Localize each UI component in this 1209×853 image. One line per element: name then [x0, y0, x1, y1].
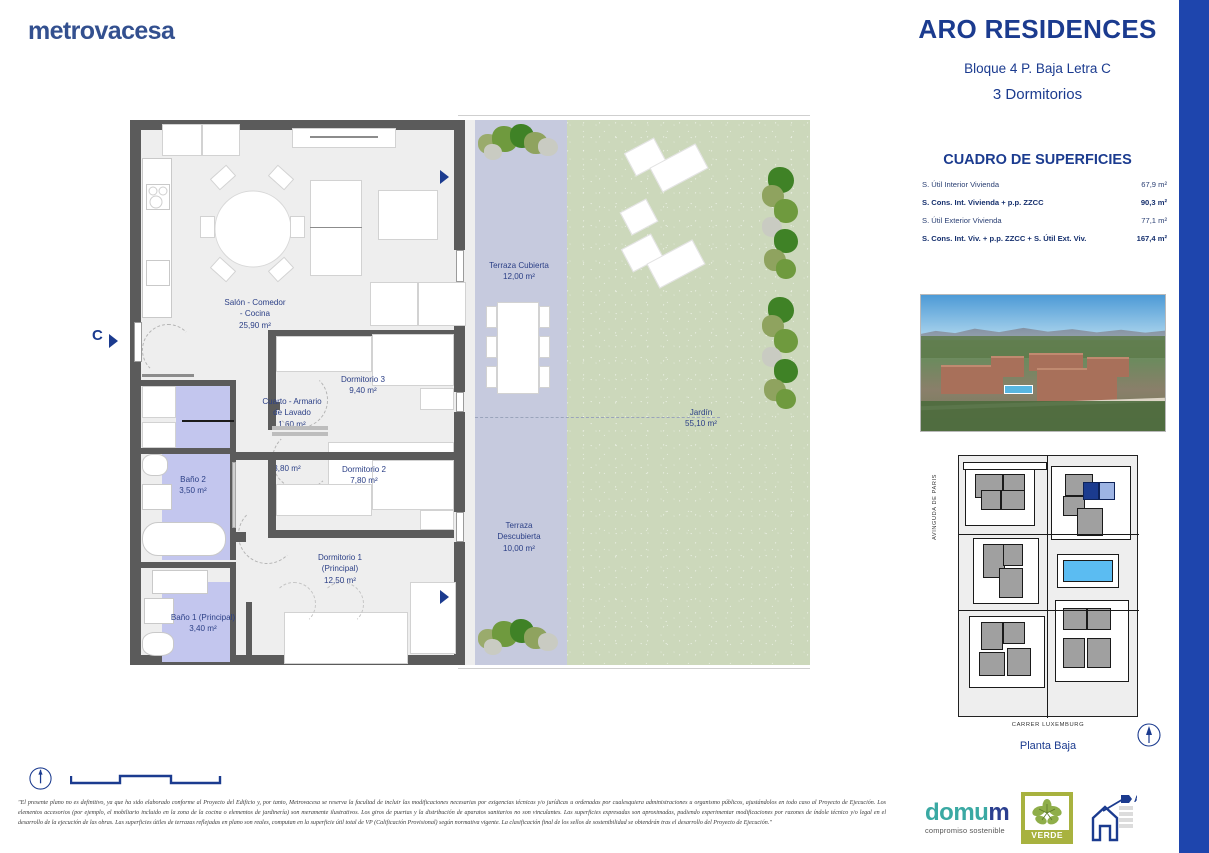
sofa-main [310, 180, 362, 276]
armchair-2 [418, 282, 466, 326]
sink-bano1 [144, 598, 174, 624]
planting-hedge-lower [760, 297, 800, 412]
kitchen-sink [146, 260, 170, 286]
surfaces-table-title: CUADRO DE SUPERFICIES [905, 152, 1170, 168]
brand-logo: metrovacesa [28, 17, 174, 46]
outdoor-chair [539, 366, 550, 388]
kitchen-upper-cabinet [202, 124, 240, 156]
surface-label: S. Cons. Int. Vivienda + p.p. ZZCC [922, 198, 1044, 207]
view-direction-arrow-1 [440, 170, 449, 184]
wall-dorm2-bottom [268, 530, 454, 538]
terrace-divider-line [470, 417, 720, 418]
armchair-1 [370, 282, 418, 326]
entrance-direction-arrow [109, 334, 118, 348]
outdoor-chair [486, 306, 497, 328]
laundry-leader-line [182, 420, 234, 422]
nightstand-dorm2 [420, 510, 454, 530]
outdoor-chair [539, 336, 550, 358]
kitchen-upper-cabinet [162, 124, 202, 156]
wall-bano1-right [230, 562, 236, 662]
laundry-door-swing [272, 372, 328, 428]
washer [142, 386, 176, 418]
table-row: S. Cons. Int. Vivienda + p.p. ZZCC 90,3 … [922, 194, 1167, 212]
verde-label: VERDE [1031, 830, 1063, 840]
outdoor-chair [486, 336, 497, 358]
toilet-bano2 [142, 454, 168, 476]
legal-disclaimer: "El presente plano no es definitivo, ya … [18, 799, 886, 828]
window-right-1 [456, 250, 464, 282]
surfaces-table: S. Útil Interior Vivienda 67,9 m² S. Con… [922, 176, 1167, 247]
surface-value: 167,4 m² [1137, 234, 1167, 243]
dryer [142, 422, 176, 448]
wall-exterior-right-a [454, 120, 465, 250]
door-leaf-dist [272, 432, 328, 436]
sink-bano2 [142, 484, 172, 510]
entry-door-swing [142, 324, 194, 376]
wall-exterior-right-c [454, 412, 465, 512]
unit-identifier: Bloque 4 P. Baja Letra C [905, 61, 1170, 76]
sideboard [292, 128, 396, 148]
burner-icons [146, 184, 170, 210]
wall-dorm3-left [268, 330, 276, 430]
floor-plan-drawing: Salón - Comedor - Cocina 25,90 m² Dormit… [120, 112, 820, 672]
planting-hedge-upper [760, 167, 800, 282]
right-accent-stripe [1179, 0, 1209, 853]
dining-chair [200, 216, 215, 238]
domum-text-2: u [974, 799, 988, 826]
toilet-bano1 [142, 632, 174, 656]
community-pool [1063, 560, 1113, 582]
planting-bed-top [476, 122, 560, 166]
outdoor-chair [539, 306, 550, 328]
domum-tagline: compromiso sostenible [925, 827, 1009, 834]
street-label-avinguda-de-paris: AVINGUDA DE PARIS [932, 450, 938, 540]
wall-dorm1-left [246, 602, 252, 664]
domum-text-3: m [988, 799, 1009, 826]
photo-pool [1004, 385, 1033, 395]
aerial-photo [920, 294, 1166, 432]
domum-logo: domum compromiso sostenible [925, 801, 1009, 834]
surface-value: 77,1 m² [1141, 216, 1167, 225]
project-header: ARO RESIDENCES Bloque 4 P. Baja Letra C … [905, 14, 1170, 103]
view-direction-arrow-2 [440, 590, 449, 604]
north-arrow-icon [1136, 722, 1162, 748]
wardrobe-dorm2 [276, 484, 372, 516]
bathtub-bano2 [142, 522, 226, 556]
domum-text-1: dom [925, 799, 974, 826]
bedroom-count: 3 Dormitorios [905, 86, 1170, 103]
certification-logos: domum compromiso sostenible [925, 792, 1137, 844]
table-row: S. Útil Exterior Vivienda 77,1 m² [922, 212, 1167, 230]
compass-north-icon [28, 766, 53, 791]
entrance-letter: C [92, 327, 103, 344]
energy-rating-badge: A [1085, 792, 1137, 844]
project-title: ARO RESIDENCES [905, 14, 1170, 45]
sideboard-detail [310, 136, 378, 138]
energy-rating-letter: A [1134, 794, 1137, 804]
coffee-table [378, 190, 438, 240]
graphic-scale-bar [70, 774, 222, 787]
window-right-3 [456, 512, 464, 542]
outdoor-chair [486, 366, 497, 388]
window-entry-door [134, 322, 142, 362]
bed-dorm2 [372, 460, 454, 510]
outdoor-dining-table [497, 302, 539, 394]
door-leaf-bano2 [232, 462, 236, 528]
wall-exterior-left [130, 120, 141, 665]
nightstand-dorm3 [420, 388, 454, 410]
table-row: S. Cons. Int. Viv. + p.p. ZZCC + S. Útil… [922, 229, 1167, 247]
bed-dorm3 [372, 334, 454, 386]
window-right-2 [456, 392, 464, 412]
plot-boundary-bottom [458, 668, 810, 669]
site-key-plan [958, 455, 1138, 717]
surface-value: 67,9 m² [1141, 180, 1167, 189]
wall-dorm2-left [268, 460, 276, 534]
wall-dorm2-top [236, 452, 454, 460]
house-icon [1093, 807, 1117, 840]
dining-chair [290, 216, 305, 238]
street-label-carrer-luxemburg: CARRER LUXEMBURG [958, 722, 1138, 728]
kitchen-counter [142, 158, 172, 318]
surface-label: S. Útil Exterior Vivienda [922, 216, 1002, 225]
surface-value: 90,3 m² [1141, 198, 1167, 207]
entry-door-leaf [142, 374, 194, 377]
plot-boundary-top [458, 115, 810, 116]
surface-label: S. Cons. Int. Viv. + p.p. ZZCC + S. Útil… [922, 234, 1086, 243]
planting-bed-bottom [476, 617, 560, 661]
distribuidor-door-swing [272, 430, 332, 490]
photo-foreground-trees [921, 401, 1165, 431]
surface-label: S. Útil Interior Vivienda [922, 180, 999, 189]
siteplan-caption: Planta Baja [958, 740, 1138, 752]
laundry-room-fill [176, 382, 234, 448]
shower-bano1 [152, 570, 208, 594]
closet-door-1 [272, 582, 316, 626]
unit-highlight-marker [1083, 482, 1099, 500]
closet-door-2 [320, 582, 364, 626]
wall-bano1-top [140, 562, 236, 568]
wall-dorm1-corner [236, 532, 246, 542]
wardrobe-dorm3 [276, 336, 372, 372]
wall-laundry-right [230, 380, 236, 448]
unit-highlight-neighbor [1099, 482, 1115, 500]
leaf-icon [1025, 796, 1069, 830]
photo-sky [921, 295, 1165, 336]
nightstand-dorm1 [410, 582, 456, 654]
table-row: S. Útil Interior Vivienda 67,9 m² [922, 176, 1167, 194]
floorplan-document: metrovacesa ARO RESIDENCES Bloque 4 P. B… [0, 0, 1209, 853]
verde-certification-badge: VERDE [1021, 792, 1073, 844]
